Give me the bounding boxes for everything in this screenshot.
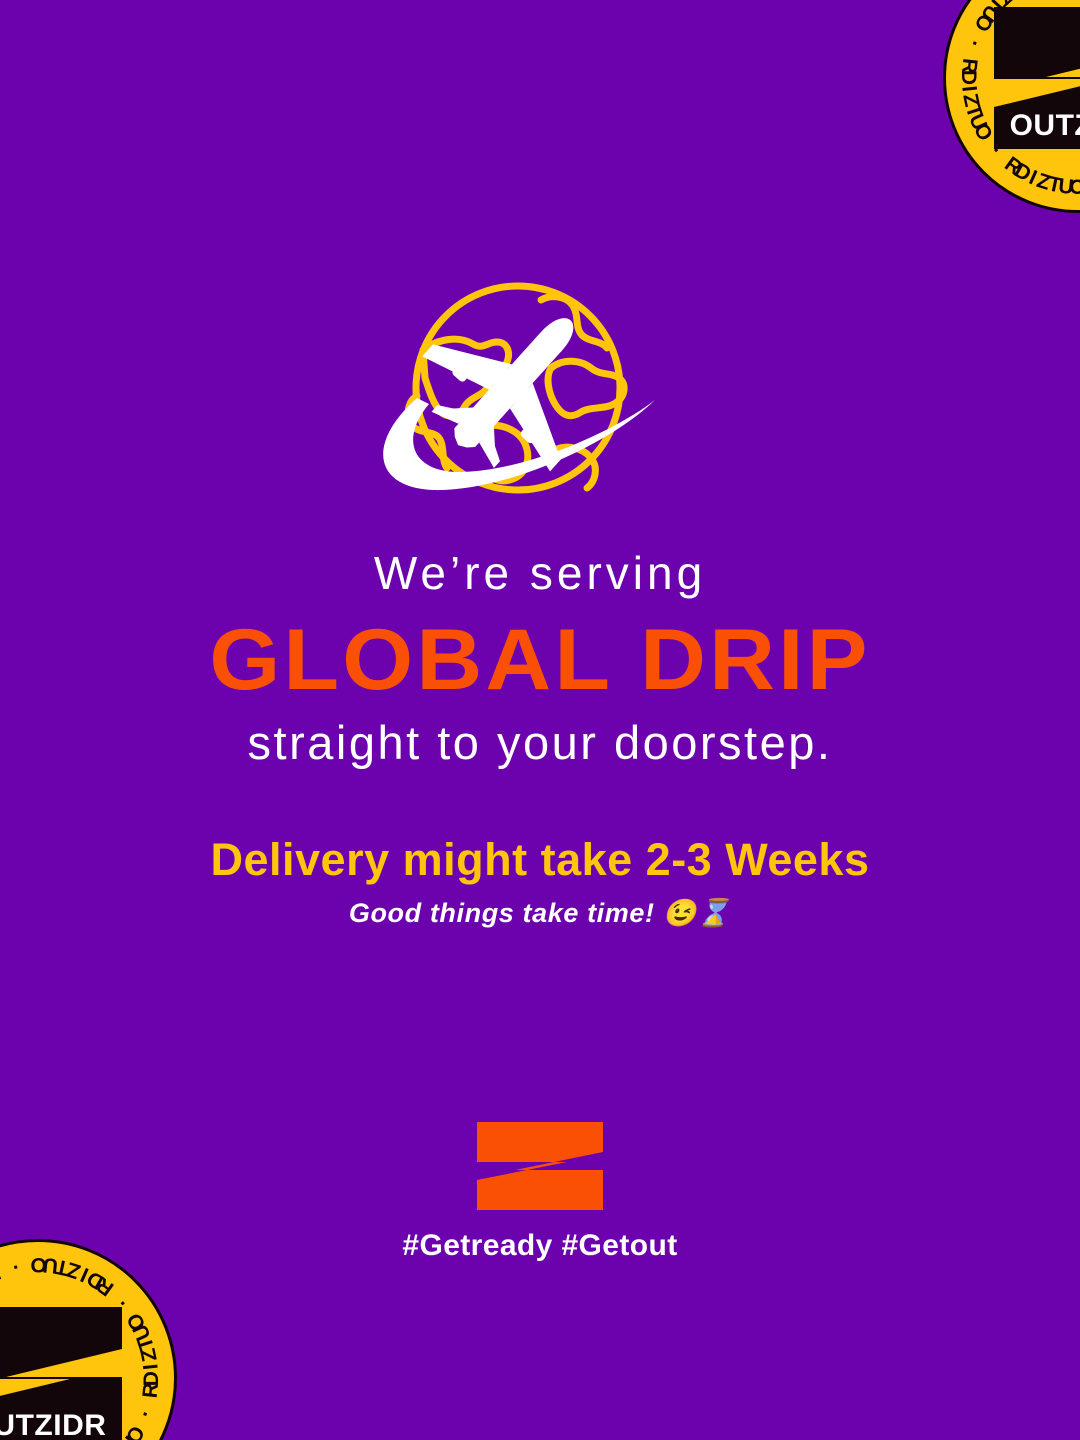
delivery-notice-text: Delivery might take 2-3 Weeks: [0, 834, 1080, 886]
promo-poster: We’re serving GLOBAL DRIP straight to yo…: [0, 0, 1080, 1440]
headline-text: GLOBAL DRIP: [0, 610, 1080, 711]
outzidr-z-logo: [475, 1120, 605, 1212]
outzidr-sticker-badge-bottom-left: OUTZIDR · OUTZIDR · OUTZIDR · OUTZIDR · …: [0, 1239, 177, 1440]
globe-plane-artwork: [355, 272, 725, 518]
z-logo-mark: [475, 1120, 605, 1212]
outzidr-sticker-badge-top-right: OUTZIDR · OUTZIDR · OUTZIDR · OUTZIDR · …: [943, 0, 1080, 213]
eyebrow-text: We’re serving: [0, 548, 1080, 600]
badge-wordmark-bottom-left: OUTZIDR: [0, 1407, 116, 1440]
badge-wordmark-top-right: OUTZIDR: [1000, 107, 1080, 147]
hero-illustration: [355, 272, 725, 518]
footer-tagline: #Getready #Getout: [0, 1229, 1080, 1263]
copy-block: We’re serving GLOBAL DRIP straight to yo…: [0, 548, 1080, 930]
delivery-subtext: Good things take time! 😉⌛: [0, 897, 1080, 929]
subhead-text: straight to your doorstep.: [0, 717, 1080, 770]
badge-core-top-right: OUTZIDR: [990, 3, 1080, 153]
badge-core-bottom-left: OUTZIDR: [0, 1303, 126, 1440]
footer-block: #Getready #Getout: [0, 1120, 1080, 1263]
